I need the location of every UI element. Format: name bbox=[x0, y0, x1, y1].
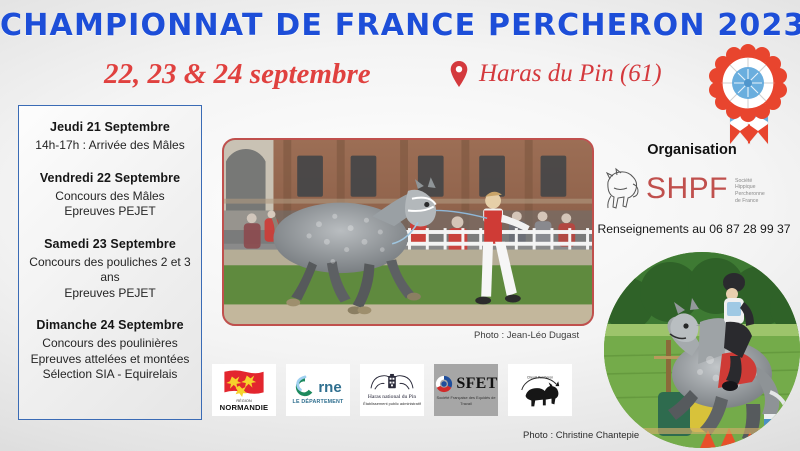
black-horse-silhouette-icon: Cheval Percheron bbox=[516, 370, 564, 410]
shpf-full-name: Société Hippique Percheronne de France bbox=[732, 174, 765, 204]
event-location: Haras du Pin (61) bbox=[450, 60, 662, 88]
program-day-line: Concours des Mâles bbox=[25, 189, 195, 205]
program-panel: Jeudi 21 Septembre 14h-17h : Arrivée des… bbox=[18, 105, 202, 420]
haras-national-du-pin-logo: Haras national du Pin Établissement publ… bbox=[360, 364, 424, 416]
haras-crest-icon bbox=[365, 373, 419, 394]
orne-departement-logo: rne LE DÉPARTEMENT bbox=[286, 364, 350, 416]
partner-logos: RÉGION NORMANDIE rne LE DÉPARTEMENT bbox=[212, 364, 572, 416]
program-day-line: 14h-17h : Arrivée des Mâles bbox=[25, 138, 195, 154]
program-day-line: Epreuves PEJET bbox=[25, 286, 195, 302]
program-day: Vendredi 22 Septembre Concours des Mâles… bbox=[25, 171, 195, 220]
main-photo-credit: Photo : Jean-Léo Dugast bbox=[474, 330, 579, 341]
logo-caption-small: Haras national du Pin bbox=[368, 394, 416, 400]
program-day-title: Vendredi 22 Septembre bbox=[25, 171, 195, 185]
program-day-line: Concours des pouliches 2 et 3 ans bbox=[25, 255, 195, 286]
program-day-line: Epreuves PEJET bbox=[25, 204, 195, 220]
normandy-flag-icon bbox=[222, 369, 266, 397]
svg-text:Cheval Percheron: Cheval Percheron bbox=[527, 375, 553, 379]
percheron-horse-icon bbox=[600, 166, 642, 212]
program-day-title: Samedi 23 Septembre bbox=[25, 237, 195, 251]
event-dates: 22, 23 & 24 septembre bbox=[104, 58, 371, 91]
secondary-photo bbox=[604, 252, 800, 448]
program-day-line: Sélection SIA - Equirelais bbox=[25, 367, 195, 383]
shpf-full-name-line: Percheronne bbox=[735, 191, 765, 197]
shpf-full-name-line: de France bbox=[735, 198, 758, 204]
sfet-wordmark: SFET bbox=[456, 376, 497, 392]
sfet-logo: SFET Société Française des Equidés de Tr… bbox=[434, 364, 498, 416]
shpf-full-name-line: Hippique bbox=[735, 184, 755, 190]
orne-swirl-icon bbox=[294, 375, 316, 399]
location-label: Haras du Pin (61) bbox=[479, 60, 662, 88]
orne-wordmark: rne bbox=[318, 380, 341, 395]
region-normandie-logo: RÉGION NORMANDIE bbox=[212, 364, 276, 416]
program-day: Jeudi 21 Septembre 14h-17h : Arrivée des… bbox=[25, 120, 195, 154]
contact-info: Renseignements au 06 87 28 99 37 bbox=[596, 222, 792, 236]
poster-root: CHAMPIONNAT DE FRANCE PERCHERON 2023 22,… bbox=[0, 0, 800, 451]
subtitle-row: 22, 23 & 24 septembre Haras du Pin (61) bbox=[0, 56, 800, 100]
program-day-title: Dimanche 24 Septembre bbox=[25, 318, 195, 332]
program-day-line: Concours des poulinières bbox=[25, 336, 195, 352]
logo-caption-big: NORMANDIE bbox=[220, 405, 269, 411]
page-title: CHAMPIONNAT DE FRANCE PERCHERON 2023 bbox=[0, 8, 800, 43]
cheval-percheron-logo: Cheval Percheron bbox=[508, 364, 572, 416]
organisation-heading: Organisation bbox=[602, 142, 782, 158]
program-day-title: Jeudi 21 Septembre bbox=[25, 120, 195, 134]
shpf-acronym: SHPF bbox=[646, 174, 728, 204]
logo-caption-tiny: Établissement public administratif bbox=[363, 401, 421, 407]
logo-caption-tiny: LE DÉPARTEMENT bbox=[293, 399, 344, 405]
program-day: Samedi 23 Septembre Concours des poulich… bbox=[25, 237, 195, 302]
map-pin-icon bbox=[450, 61, 468, 87]
secondary-photo-credit: Photo : Christine Chantepie bbox=[523, 430, 639, 441]
program-day: Dimanche 24 Septembre Concours des pouli… bbox=[25, 318, 195, 383]
shpf-logo: SHPF Société Hippique Percheronne de Fra… bbox=[600, 165, 786, 213]
main-photo bbox=[222, 138, 594, 326]
tricolor-rosette-icon bbox=[700, 40, 792, 148]
shpf-full-name-line: Société bbox=[735, 178, 752, 184]
logo-caption-tiny: Société Française des Equidés de Travail bbox=[436, 395, 496, 407]
program-day-line: Epreuves attelées et montées bbox=[25, 352, 195, 368]
sfet-emblem-icon bbox=[434, 374, 454, 394]
